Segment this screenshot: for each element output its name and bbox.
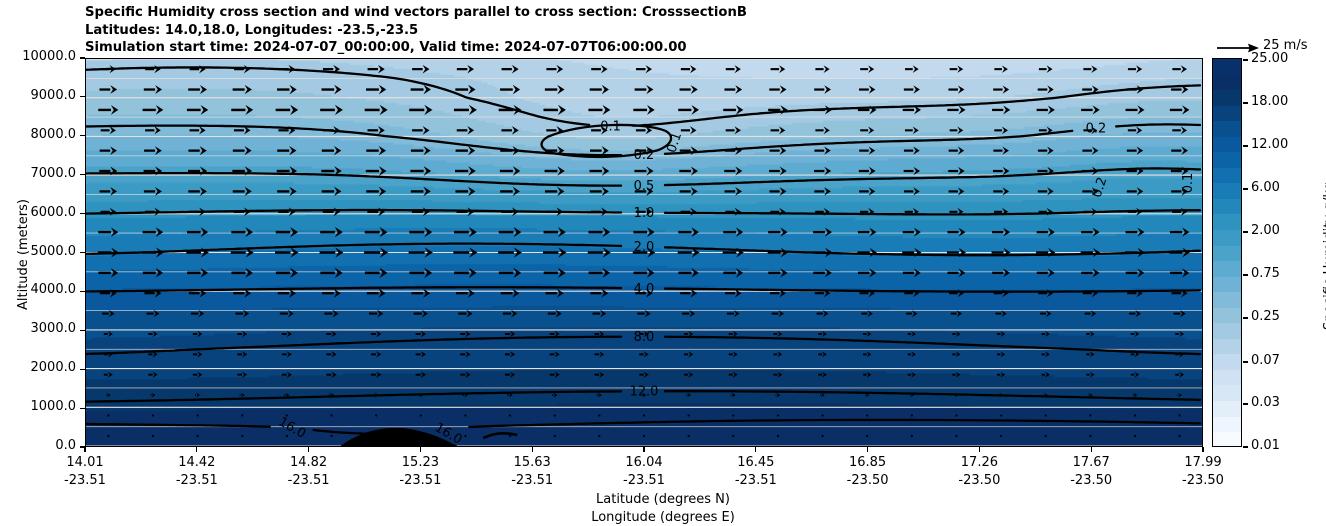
wind-vector: [498, 247, 522, 257]
wind-vector: [994, 289, 1009, 297]
wind-vector: [1170, 227, 1189, 236]
wind-vector: [948, 85, 964, 93]
wind-vector: [101, 126, 116, 134]
wind-vector: [643, 414, 645, 416]
wind-vector: [188, 187, 207, 196]
wind-vector: [1134, 414, 1136, 416]
wind-vector: [98, 227, 118, 237]
wind-vector: [416, 351, 426, 357]
wind-vector: [418, 393, 424, 398]
wind-vector: [412, 65, 429, 74]
wind-vector: [554, 414, 556, 416]
wind-vector: [1037, 167, 1053, 175]
wind-vector: [725, 289, 741, 297]
x-tick-label-longitude: -23.51: [64, 473, 106, 488]
colorbar-band: [1213, 137, 1241, 153]
wind-vector: [773, 331, 782, 337]
colorbar-tick-mark: [1243, 188, 1248, 189]
wind-vector: [152, 414, 154, 416]
wind-vector: [320, 105, 343, 115]
wind-vector: [678, 227, 699, 237]
wind-vector: [1133, 393, 1138, 398]
wind-vector: [993, 147, 1009, 155]
wind-vector: [369, 310, 383, 318]
x-tick-label-latitude: 16.04: [625, 455, 662, 470]
wind-vector: [729, 351, 738, 357]
wind-vector: [320, 268, 342, 278]
colorbar-band: [1213, 106, 1241, 122]
wind-vector: [680, 187, 698, 196]
wind-vector: [680, 289, 697, 298]
wind-vector: [546, 289, 564, 298]
wind-vector: [725, 146, 742, 155]
wind-vector: [1127, 146, 1143, 154]
wind-vector: [284, 393, 289, 398]
wind-vector: [955, 414, 957, 416]
x-tick-label-latitude: 17.67: [1073, 455, 1110, 470]
colorbar-tick-mark: [1243, 59, 1248, 60]
wind-vector: [142, 247, 164, 257]
wind-vector: [367, 289, 386, 298]
wind-vector: [1038, 289, 1053, 297]
wind-vector: [814, 167, 831, 176]
wind-vector: [548, 310, 562, 318]
y-tick-label: 10000.0: [0, 49, 76, 64]
x-tick-label-longitude: -23.51: [735, 473, 777, 488]
wind-vector: [636, 65, 652, 73]
wind-vector: [997, 331, 1005, 337]
colorbar-band: [1213, 183, 1241, 199]
colorbar-band: [1213, 401, 1241, 417]
wind-vector: [277, 187, 296, 196]
wind-vector: [410, 166, 431, 176]
wind-vector: [1083, 65, 1097, 73]
wind-vector: [1131, 372, 1140, 378]
wind-vector: [994, 208, 1008, 216]
x-tick-label-longitude: -23.51: [623, 473, 665, 488]
wind-vector: [144, 187, 162, 196]
wind-vector: [1169, 248, 1190, 258]
wind-vector: [371, 371, 381, 377]
wind-vector: [1081, 248, 1101, 257]
x-tick-mark: [643, 447, 644, 452]
wind-vector: [949, 147, 965, 155]
wind-vector: [505, 351, 515, 357]
wind-vector: [101, 65, 116, 73]
wind-vector: [104, 351, 113, 357]
wind-vector: [776, 393, 781, 398]
colorbar-band: [1213, 277, 1241, 293]
wind-vector: [456, 289, 475, 298]
wind-vector: [679, 166, 698, 175]
wind-vector: [724, 85, 742, 94]
wind-vector: [594, 351, 604, 357]
x-tick-label-latitude: 15.63: [514, 455, 551, 470]
wind-vector: [732, 435, 734, 437]
wind-vector: [509, 435, 511, 437]
wind-vector: [98, 268, 118, 277]
wind-vector: [1171, 146, 1188, 155]
wind-vector: [148, 331, 157, 337]
wind-vector: [725, 187, 742, 196]
wind-vector: [231, 227, 253, 237]
wind-vector: [233, 289, 251, 298]
y-tick-label: 5000.0: [0, 244, 76, 259]
wind-vector: [769, 167, 787, 176]
wind-vector: [723, 227, 743, 237]
wind-vector: [366, 187, 386, 197]
wind-vector: [773, 372, 782, 378]
wind-vector: [866, 435, 868, 437]
wind-vector: [908, 372, 916, 378]
wind-vector: [277, 85, 297, 94]
colorbar-band: [1213, 90, 1241, 106]
wind-vector: [770, 208, 785, 216]
wind-vector: [188, 85, 207, 94]
wind-vector: [1170, 105, 1190, 114]
wind-vector: [102, 310, 115, 317]
wind-vector: [234, 207, 251, 216]
wind-vector: [1126, 268, 1145, 277]
wind-vector: [1175, 351, 1184, 357]
wind-vector: [503, 310, 517, 318]
wind-vector: [1179, 435, 1181, 437]
wind-vector: [773, 351, 782, 357]
wind-vector: [326, 331, 336, 337]
wind-vector: [100, 187, 117, 196]
wind-vector: [231, 268, 253, 278]
wind-vector: [275, 247, 299, 257]
wind-vector: [768, 268, 787, 277]
wind-vector: [859, 85, 875, 93]
wind-vector: [454, 268, 477, 278]
wind-vector: [546, 65, 563, 74]
wind-vector: [286, 435, 288, 437]
wind-vector: [195, 393, 200, 398]
y-tick-mark: [80, 330, 85, 331]
wind-vector: [322, 289, 341, 298]
wind-vector: [590, 85, 609, 94]
y-tick-label: 9000.0: [0, 88, 76, 103]
wind-vector: [768, 248, 789, 258]
wind-vector: [329, 393, 334, 398]
wind-vector: [818, 331, 827, 337]
wind-vector: [193, 372, 203, 378]
wind-vector: [1040, 310, 1051, 317]
wind-vector: [543, 247, 567, 257]
wind-vector: [813, 105, 832, 114]
wind-vector: [232, 166, 252, 176]
colorbar-band: [1213, 152, 1241, 168]
wind-vector: [994, 127, 1008, 135]
wind-vector: [1128, 65, 1142, 73]
wind-vector: [636, 126, 652, 134]
wind-vector: [193, 351, 203, 357]
wind-vector: [903, 105, 921, 114]
wind-vector: [1086, 351, 1094, 357]
wind-vector: [237, 331, 247, 337]
wind-vector: [993, 167, 1009, 175]
wind-vector: [770, 146, 787, 155]
x-tick-mark: [420, 447, 421, 452]
wind-vector: [678, 105, 699, 115]
x-tick-label-longitude: -23.51: [511, 473, 553, 488]
wind-vector: [545, 146, 564, 155]
colorbar-tick-label: 2.00: [1251, 223, 1280, 238]
wind-vector: [187, 268, 208, 278]
wind-vector: [1170, 268, 1189, 277]
y-tick-mark: [80, 213, 85, 214]
wind-vector: [952, 351, 960, 357]
wind-vector: [104, 372, 113, 378]
wind-vector: [143, 105, 164, 115]
wind-vector: [729, 372, 738, 378]
x-tick-label-longitude: -23.51: [288, 473, 330, 488]
wind-vector: [375, 414, 377, 416]
wind-vector: [591, 65, 607, 73]
wind-vector: [286, 414, 288, 416]
wind-vector: [994, 65, 1008, 72]
wind-vector: [554, 435, 556, 437]
wind-vector: [861, 310, 873, 317]
wind-vector: [860, 65, 874, 73]
wind-vector: [771, 65, 786, 73]
wind-vector: [276, 227, 298, 237]
wind-vector: [186, 247, 209, 257]
wind-vector: [505, 371, 515, 377]
wind-vector: [366, 166, 387, 176]
wind-vector: [639, 351, 649, 357]
wind-vector: [107, 435, 109, 437]
wind-vector: [863, 331, 871, 337]
wind-vector: [191, 310, 204, 317]
wind-vector: [1127, 289, 1143, 297]
x-tick-mark: [196, 447, 197, 452]
wind-vector: [276, 268, 298, 278]
wind-vector: [633, 227, 654, 237]
wind-vector: [821, 414, 823, 416]
wind-vector: [499, 227, 522, 237]
colorbar-band: [1213, 292, 1241, 308]
wind-vector: [409, 268, 432, 278]
y-tick-label: 2000.0: [0, 360, 76, 375]
colorbar-band: [1213, 261, 1241, 277]
wind-vector: [367, 207, 385, 216]
x-tick-label-longitude: -23.50: [847, 473, 889, 488]
wind-vector: [866, 414, 868, 416]
wind-vector: [544, 268, 566, 278]
wind-vector: [1039, 208, 1053, 216]
colorbar-tick-mark: [1243, 274, 1248, 275]
wind-vector: [904, 187, 920, 195]
wind-vector: [863, 351, 871, 357]
colorbar-tick-mark: [1243, 102, 1248, 103]
wind-vector: [949, 208, 963, 216]
wind-vector: [681, 126, 697, 134]
wind-vector: [106, 393, 111, 398]
wind-vector: [903, 268, 921, 277]
wind-vector: [1089, 435, 1091, 437]
x-tick-label-longitude: -23.50: [1070, 473, 1112, 488]
wind-vector: [1177, 393, 1182, 398]
wind-vector: [546, 207, 563, 216]
wind-vector: [545, 166, 565, 176]
wind-vector: [726, 126, 741, 134]
wind-vector: [813, 228, 832, 237]
wind-vector: [588, 227, 610, 237]
wind-vector: [460, 331, 470, 338]
wind-vector: [729, 331, 738, 337]
colorbar-band: [1213, 75, 1241, 91]
wind-vector: [552, 393, 557, 398]
y-tick-label: 0.0: [0, 438, 76, 453]
wind-vector: [590, 187, 609, 196]
wind-vector: [1082, 187, 1098, 195]
wind-vector: [234, 65, 250, 73]
wind-vector: [371, 351, 381, 357]
colorbar-tick-label: 18.00: [1251, 94, 1288, 109]
wind-vector: [858, 105, 877, 114]
wind-vector: [500, 85, 520, 95]
wind-vector: [416, 331, 426, 338]
wind-vector: [637, 310, 650, 317]
wind-vector: [320, 247, 344, 257]
x-tick-mark: [979, 447, 980, 452]
wind-vector: [100, 289, 116, 297]
colorbar-tick-label: 0.03: [1251, 395, 1280, 410]
wind-vector: [366, 85, 386, 95]
wind-vector: [777, 414, 779, 416]
x-tick-mark: [1202, 447, 1203, 452]
wind-vector: [684, 372, 693, 378]
wind-vector: [197, 414, 199, 416]
wind-vector: [588, 105, 610, 115]
wind-vector: [455, 85, 475, 95]
wind-vector: [1039, 126, 1053, 134]
x-tick-label-longitude: -23.50: [958, 473, 1000, 488]
wind-vector: [143, 268, 163, 278]
wind-vector: [993, 85, 1009, 93]
wind-vector: [948, 268, 966, 277]
wind-vector: [1175, 331, 1184, 337]
wind-vector: [409, 227, 432, 237]
wind-vector: [1044, 393, 1048, 398]
wind-vector: [100, 146, 117, 155]
wind-vector: [858, 268, 876, 277]
wind-vector: [326, 371, 336, 377]
wind-vector: [277, 166, 297, 176]
wind-vector: [680, 85, 698, 94]
wind-vector: [326, 351, 336, 357]
wind-vector: [678, 247, 700, 257]
wind-vector: [817, 310, 829, 317]
wind-vector: [455, 166, 476, 176]
wind-vector: [233, 187, 252, 196]
wind-vector: [99, 167, 117, 176]
wind-vector: [144, 85, 162, 94]
colorbar-tick-mark: [1243, 361, 1248, 362]
wind-vector: [1036, 248, 1055, 257]
colorbar-band: [1213, 432, 1241, 447]
wind-vector: [1088, 393, 1092, 398]
wind-vector: [727, 310, 740, 317]
wind-vector: [905, 65, 919, 73]
wind-vector: [507, 393, 512, 398]
wind-vector: [820, 393, 825, 398]
wind-vector: [371, 331, 381, 338]
title-line-2: Latitudes: 14.0,18.0, Longitudes: -23.5,…: [85, 22, 747, 40]
colorbar-band: [1213, 323, 1241, 339]
wind-vector: [278, 126, 295, 135]
wind-vector: [233, 85, 252, 94]
wind-vector: [688, 414, 690, 416]
wind-vector: [911, 414, 913, 416]
wind-vector: [1082, 147, 1098, 155]
wind-vector: [414, 310, 428, 318]
wind-vector: [1128, 126, 1142, 134]
wind-vector: [951, 310, 962, 317]
wind-vector: [954, 393, 958, 398]
y-tick-label: 7000.0: [0, 166, 76, 181]
wind-vector: [411, 146, 431, 155]
wind-vector: [1038, 147, 1054, 155]
wind-vector: [188, 166, 207, 175]
wind-vector: [1037, 228, 1055, 237]
wind-vector: [1131, 331, 1140, 337]
wind-vector: [364, 247, 388, 257]
wind-vector: [278, 289, 296, 298]
wind-vector: [681, 65, 697, 73]
wind-vector: [904, 85, 920, 93]
colorbar-tick-label: 0.01: [1251, 438, 1280, 453]
wind-vector: [499, 268, 521, 278]
colorbar[interactable]: [1212, 58, 1242, 447]
colorbar-band: [1213, 417, 1241, 433]
wind-vector: [1127, 85, 1144, 94]
wind-vector: [322, 146, 342, 155]
wind-vector: [815, 208, 830, 216]
wind-vector: [187, 227, 208, 237]
x-tick-label-longitude: -23.50: [1182, 473, 1224, 488]
wind-vector: [857, 248, 877, 257]
wind-vector: [815, 126, 829, 134]
wind-vector: [633, 105, 654, 115]
y-tick-label: 8000.0: [0, 127, 76, 142]
wind-vector: [1171, 85, 1188, 94]
x-tick-label-longitude: -23.51: [176, 473, 218, 488]
cross-section-plot[interactable]: 0.10.20.20.51.02.04.08.012.016.016.00.10…: [85, 58, 1203, 447]
colorbar-tick-label: 0.25: [1251, 309, 1280, 324]
wind-vector: [682, 310, 695, 317]
colorbar-band: [1213, 230, 1241, 246]
colorbar-band: [1213, 246, 1241, 262]
wind-vector: [1172, 208, 1187, 216]
colorbar-tick-label: 25.00: [1251, 51, 1288, 66]
wind-vector: [723, 105, 743, 115]
wind-vector: [993, 187, 1009, 195]
wind-vector: [1042, 372, 1050, 378]
title-line-3: Simulation start time: 2024-07-07_00:00:…: [85, 39, 747, 57]
wind-vector: [815, 289, 831, 297]
wind-vector: [910, 393, 914, 398]
wind-vector: [144, 146, 162, 155]
wind-vector: [680, 146, 698, 155]
wind-vector: [1000, 435, 1002, 437]
wind-vector: [241, 435, 243, 437]
wind-vector: [772, 310, 784, 317]
wind-vector: [950, 65, 964, 72]
wind-vector: [1045, 435, 1047, 437]
